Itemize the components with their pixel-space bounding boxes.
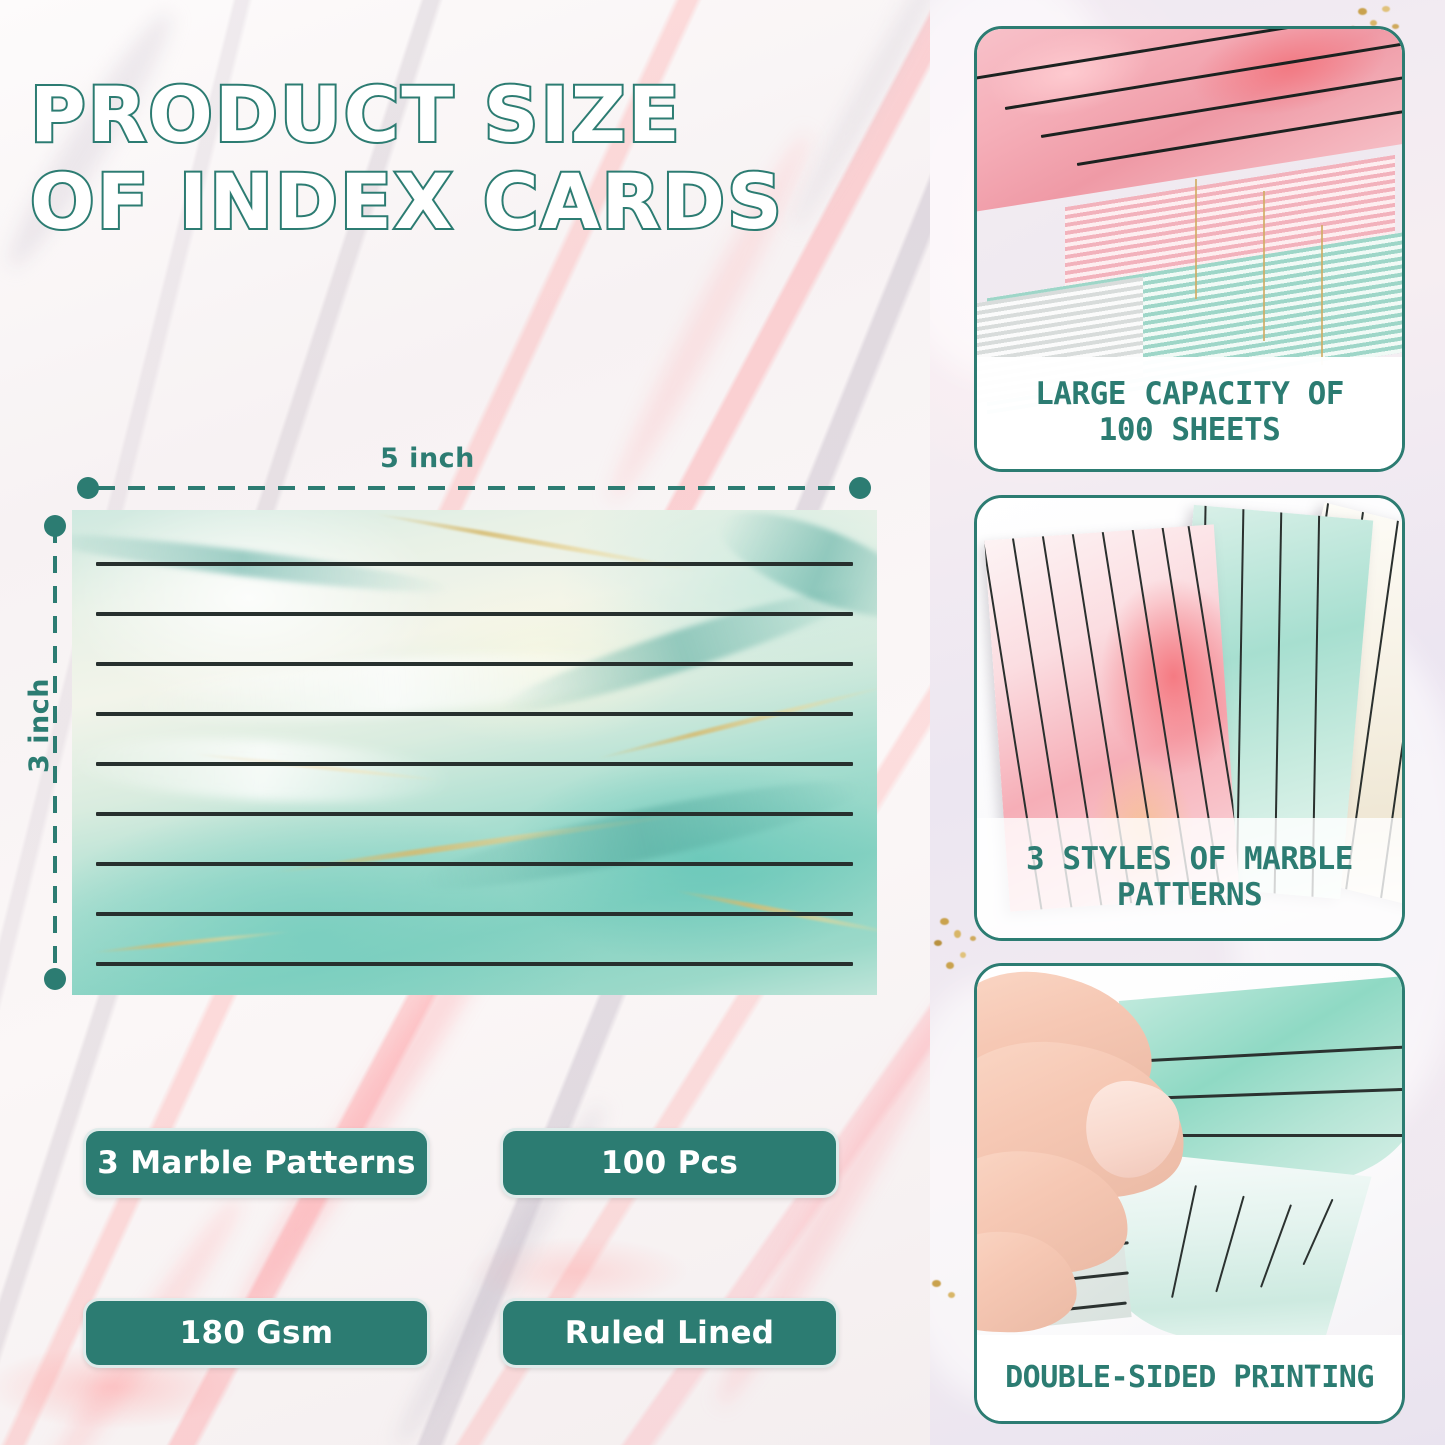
height-dimension-line bbox=[53, 526, 57, 978]
page-title-line-1: PRODUCT SIZE bbox=[30, 70, 682, 159]
width-dimension-label: 5 inch bbox=[380, 443, 475, 474]
height-dimension-label: 3 inch bbox=[24, 678, 55, 773]
left-panel: PRODUCT SIZE OF INDEX CARDS 5 inch 3 inc… bbox=[0, 0, 930, 1445]
badge-ruled-lined-label: Ruled Lined bbox=[565, 1315, 775, 1351]
badge-paper-weight-label: 180 Gsm bbox=[180, 1315, 334, 1351]
double-sided-caption-line-1: DOUBLE-SIDED PRINTING bbox=[1005, 1361, 1374, 1396]
gold-flake bbox=[940, 918, 949, 925]
index-card-photo bbox=[72, 510, 877, 995]
feature-card-double-sided: DOUBLE-SIDED PRINTING bbox=[974, 963, 1405, 1424]
feature-card-double-sided-caption: DOUBLE-SIDED PRINTING bbox=[977, 1335, 1402, 1421]
infographic-page: PRODUCT SIZE OF INDEX CARDS 5 inch 3 inc… bbox=[0, 0, 1445, 1445]
gold-flake bbox=[946, 962, 954, 969]
gold-flake bbox=[954, 930, 961, 938]
page-title-line-2: OF INDEX CARDS bbox=[30, 159, 890, 246]
page-title: PRODUCT SIZE OF INDEX CARDS bbox=[30, 72, 890, 245]
feature-card-styles-caption: 3 STYLES OF MARBLE PATTERNS bbox=[977, 818, 1402, 938]
capacity-caption-line-2: 100 SHEETS bbox=[1099, 413, 1281, 449]
badge-marble-patterns-label: 3 Marble Patterns bbox=[97, 1145, 415, 1181]
width-dimension-line bbox=[98, 486, 848, 490]
feature-card-capacity-caption: LARGE CAPACITY OF 100 SHEETS bbox=[977, 357, 1402, 469]
badge-paper-weight[interactable]: 180 Gsm bbox=[83, 1298, 430, 1368]
height-dimension-end-dot bbox=[44, 968, 66, 990]
gold-flake bbox=[934, 940, 942, 946]
badge-marble-patterns[interactable]: 3 Marble Patterns bbox=[83, 1128, 430, 1198]
gold-flake bbox=[948, 1292, 955, 1298]
badge-quantity[interactable]: 100 Pcs bbox=[500, 1128, 839, 1198]
gold-flake bbox=[1358, 8, 1367, 15]
gold-flake bbox=[960, 952, 966, 958]
styles-caption-line-1: 3 STYLES OF MARBLE bbox=[1026, 842, 1353, 878]
width-dimension-start-dot bbox=[77, 477, 99, 499]
width-dimension-end-dot bbox=[849, 477, 871, 499]
gold-flake bbox=[970, 936, 976, 941]
gold-flake bbox=[1382, 6, 1390, 12]
height-dimension-start-dot bbox=[44, 515, 66, 537]
styles-caption-line-2: PATTERNS bbox=[1117, 878, 1262, 914]
capacity-caption-line-1: LARGE CAPACITY OF bbox=[1035, 377, 1344, 413]
badge-quantity-label: 100 Pcs bbox=[601, 1145, 738, 1181]
feature-card-capacity: LARGE CAPACITY OF 100 SHEETS bbox=[974, 26, 1405, 472]
gold-flake bbox=[932, 1280, 941, 1287]
badge-ruled-lined[interactable]: Ruled Lined bbox=[500, 1298, 839, 1368]
feature-card-styles: 3 STYLES OF MARBLE PATTERNS bbox=[974, 495, 1405, 941]
